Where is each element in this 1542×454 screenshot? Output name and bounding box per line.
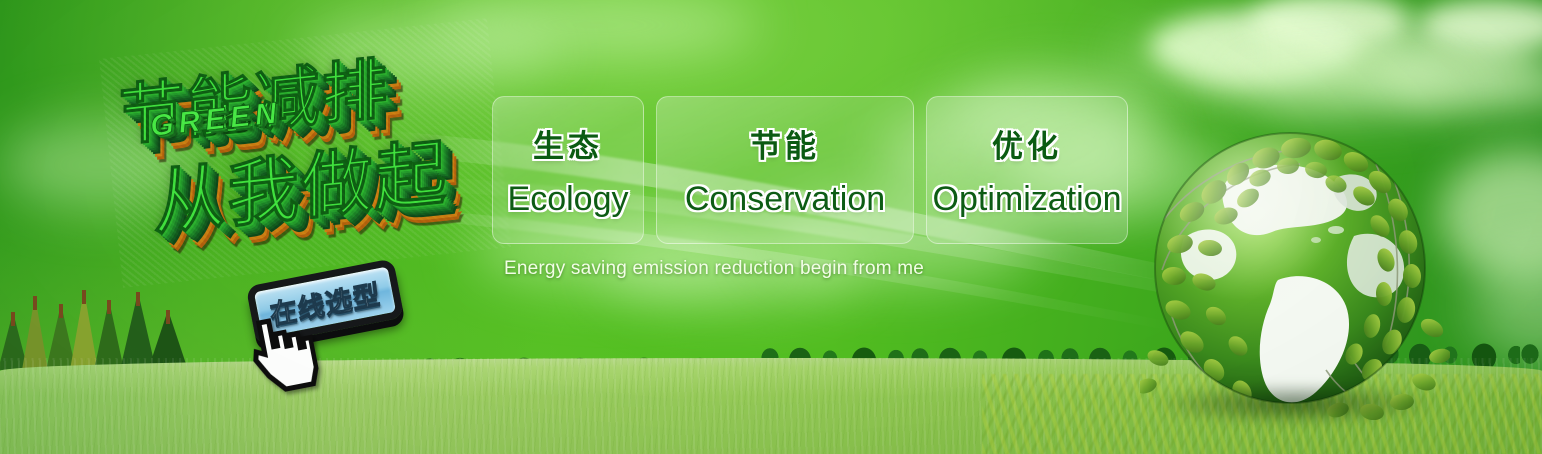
vignette-overlay [0, 0, 1542, 454]
eco-promo-banner: 节能减排 GREEN 从我做起 在线选型 生态 Ecology 节能 Conse… [0, 0, 1542, 454]
